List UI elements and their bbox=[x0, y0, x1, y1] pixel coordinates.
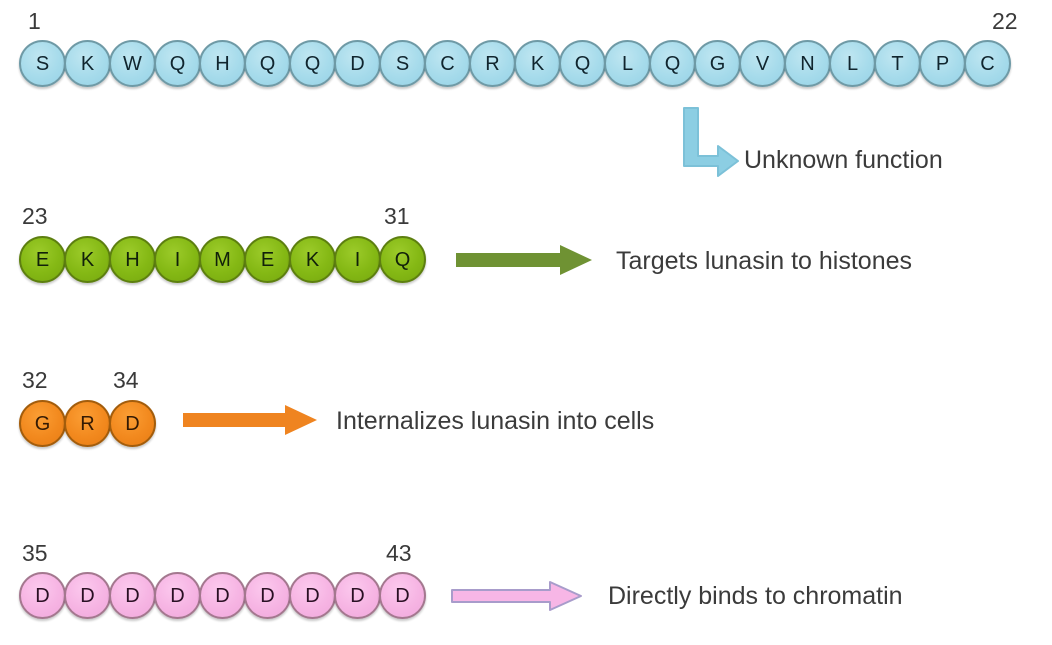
residue-letter: K bbox=[531, 54, 544, 74]
function-label-row-3: Internalizes lunasin into cells bbox=[336, 409, 654, 434]
residue-bead: R bbox=[64, 400, 111, 447]
residue-bead: M bbox=[199, 236, 246, 283]
residue-letter: W bbox=[123, 54, 142, 74]
residue-letter: D bbox=[350, 586, 364, 606]
residue-bead: D bbox=[64, 572, 111, 619]
residue-letter: Q bbox=[575, 54, 591, 74]
residue-index-start-row-2: 23 bbox=[22, 205, 48, 228]
residue-bead: W bbox=[109, 40, 156, 87]
residue-bead: I bbox=[334, 236, 381, 283]
residue-letter: H bbox=[215, 54, 229, 74]
residue-bead: Q bbox=[559, 40, 606, 87]
residue-letter: T bbox=[891, 54, 903, 74]
residue-bead: I bbox=[154, 236, 201, 283]
residue-bead: Q bbox=[289, 40, 336, 87]
residue-index-end-row-1: 22 bbox=[992, 10, 1018, 33]
bead-group-row-4: D D D D D D D D D bbox=[19, 572, 424, 619]
residue-index-start-row-4: 35 bbox=[22, 542, 48, 565]
residue-bead: K bbox=[64, 40, 111, 87]
sequence-row-2: 23 31 E K H I M E K I Q Targets lunasin … bbox=[0, 195, 1052, 355]
residue-letter: N bbox=[800, 54, 814, 74]
residue-bead: E bbox=[244, 236, 291, 283]
residue-letter: D bbox=[395, 586, 409, 606]
residue-letter: D bbox=[260, 586, 274, 606]
residue-letter: R bbox=[485, 54, 499, 74]
function-arrow-row-2 bbox=[456, 245, 592, 271]
residue-letter: H bbox=[125, 250, 139, 270]
residue-index-start-row-1: 1 bbox=[28, 10, 41, 33]
residue-bead: D bbox=[199, 572, 246, 619]
bead-group-row-2: E K H I M E K I Q bbox=[19, 236, 424, 283]
residue-bead: P bbox=[919, 40, 966, 87]
residue-bead: H bbox=[109, 236, 156, 283]
residue-letter: K bbox=[81, 54, 94, 74]
residue-bead: Q bbox=[379, 236, 426, 283]
residue-bead: D bbox=[19, 572, 66, 619]
function-arrow-row-3 bbox=[183, 405, 317, 431]
residue-letter: K bbox=[81, 250, 94, 270]
residue-letter: Q bbox=[665, 54, 681, 74]
residue-letter: P bbox=[936, 54, 949, 74]
residue-bead: D bbox=[334, 572, 381, 619]
residue-bead: Q bbox=[649, 40, 696, 87]
residue-bead: Q bbox=[244, 40, 291, 87]
residue-bead: D bbox=[289, 572, 336, 619]
residue-letter: G bbox=[35, 414, 51, 434]
residue-bead: D bbox=[379, 572, 426, 619]
residue-letter: K bbox=[306, 250, 319, 270]
residue-bead: D bbox=[109, 572, 156, 619]
bead-group-row-1: S K W Q H Q Q D S C R K Q L Q G V N L T … bbox=[19, 40, 1009, 87]
residue-bead: K bbox=[514, 40, 561, 87]
residue-letter: I bbox=[355, 250, 361, 270]
residue-index-end-row-3: 34 bbox=[113, 369, 139, 392]
residue-letter: G bbox=[710, 54, 726, 74]
residue-letter: S bbox=[36, 54, 49, 74]
residue-bead: C bbox=[424, 40, 471, 87]
residue-letter: C bbox=[980, 54, 994, 74]
residue-bead: G bbox=[19, 400, 66, 447]
residue-bead: H bbox=[199, 40, 246, 87]
residue-index-end-row-2: 31 bbox=[384, 205, 410, 228]
residue-bead: D bbox=[334, 40, 381, 87]
residue-letter: D bbox=[350, 54, 364, 74]
residue-bead: L bbox=[829, 40, 876, 87]
residue-letter: D bbox=[170, 586, 184, 606]
residue-bead: S bbox=[19, 40, 66, 87]
residue-letter: C bbox=[440, 54, 454, 74]
residue-letter: L bbox=[622, 54, 633, 74]
residue-letter: E bbox=[261, 250, 274, 270]
residue-bead: C bbox=[964, 40, 1011, 87]
residue-bead: D bbox=[154, 572, 201, 619]
residue-letter: M bbox=[214, 250, 231, 270]
sequence-row-3: 32 34 G R D Internalizes lunasin into ce… bbox=[0, 355, 1052, 530]
residue-bead: T bbox=[874, 40, 921, 87]
sequence-row-4: 35 43 D D D D D D D D D Directly binds t… bbox=[0, 530, 1052, 645]
residue-letter: I bbox=[175, 250, 181, 270]
function-label-row-1: Unknown function bbox=[744, 148, 943, 173]
residue-letter: D bbox=[125, 586, 139, 606]
sequence-row-1: 1 22 S K W Q H Q Q D S C R K Q L Q G V N… bbox=[0, 0, 1052, 195]
residue-letter: Q bbox=[305, 54, 321, 74]
residue-letter: D bbox=[305, 586, 319, 606]
residue-letter: S bbox=[396, 54, 409, 74]
elbow-arrow-icon bbox=[678, 106, 744, 180]
residue-letter: Q bbox=[260, 54, 276, 74]
residue-index-end-row-4: 43 bbox=[386, 542, 412, 565]
residue-letter: E bbox=[36, 250, 49, 270]
function-label-row-4: Directly binds to chromatin bbox=[608, 584, 903, 609]
residue-letter: D bbox=[215, 586, 229, 606]
residue-letter: Q bbox=[170, 54, 186, 74]
residue-bead: V bbox=[739, 40, 786, 87]
function-arrow-row-4 bbox=[450, 580, 584, 606]
residue-bead: Q bbox=[154, 40, 201, 87]
residue-bead: N bbox=[784, 40, 831, 87]
residue-bead: D bbox=[244, 572, 291, 619]
residue-bead: D bbox=[109, 400, 156, 447]
residue-letter: D bbox=[35, 586, 49, 606]
residue-letter: D bbox=[125, 414, 139, 434]
figure-canvas: 1 22 S K W Q H Q Q D S C R K Q L Q G V N… bbox=[0, 0, 1052, 645]
residue-bead: R bbox=[469, 40, 516, 87]
residue-bead: E bbox=[19, 236, 66, 283]
residue-bead: K bbox=[289, 236, 336, 283]
residue-letter: Q bbox=[395, 250, 411, 270]
residue-bead: S bbox=[379, 40, 426, 87]
function-label-row-2: Targets lunasin to histones bbox=[616, 249, 912, 274]
residue-letter: V bbox=[756, 54, 769, 74]
residue-bead: L bbox=[604, 40, 651, 87]
residue-bead: G bbox=[694, 40, 741, 87]
bead-group-row-3: G R D bbox=[19, 400, 154, 447]
residue-letter: R bbox=[80, 414, 94, 434]
residue-letter: D bbox=[80, 586, 94, 606]
residue-bead: K bbox=[64, 236, 111, 283]
residue-index-start-row-3: 32 bbox=[22, 369, 48, 392]
residue-letter: L bbox=[847, 54, 858, 74]
